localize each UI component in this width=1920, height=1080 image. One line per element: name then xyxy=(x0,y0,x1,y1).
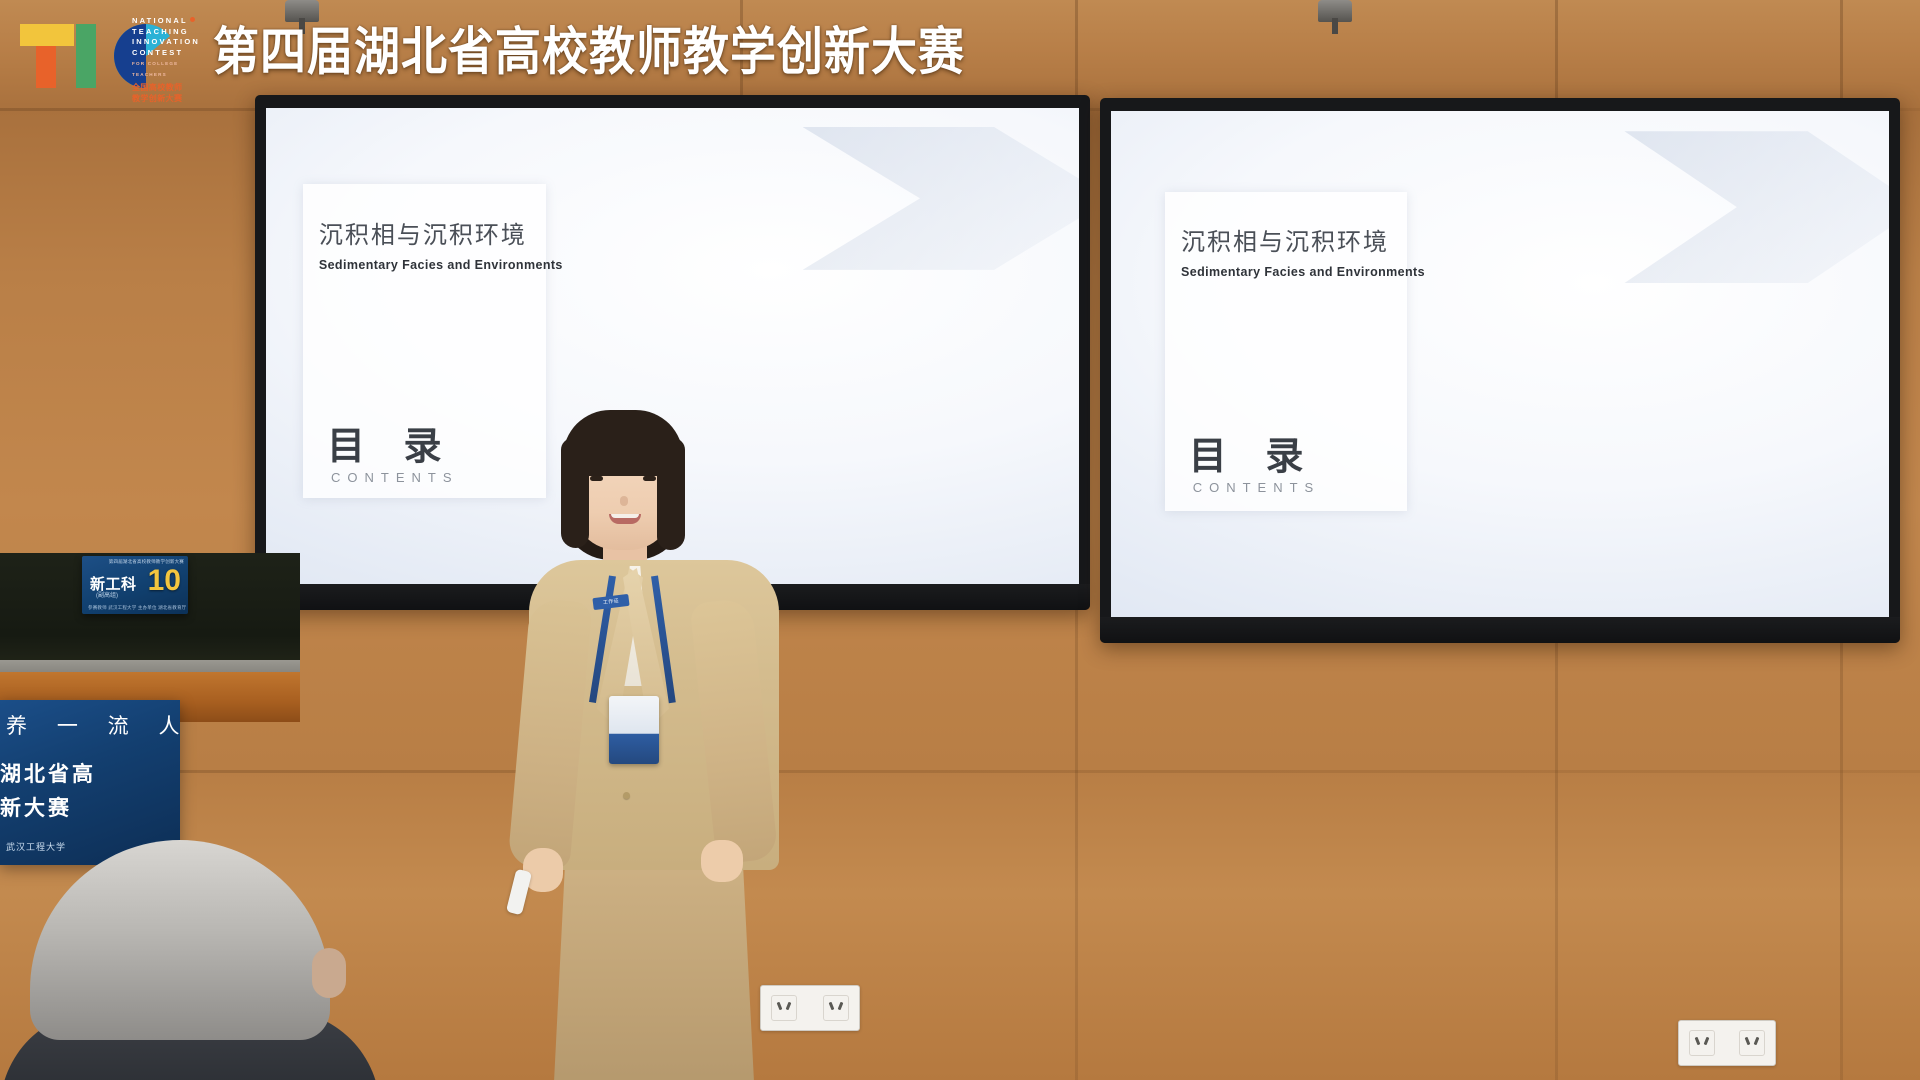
logo-chinese-line-1: 全国高校教师 xyxy=(132,83,200,94)
contents-heading-chinese: 目 录 xyxy=(327,415,456,470)
presentation-clicker[interactable] xyxy=(506,869,532,916)
audience-member-head xyxy=(30,840,350,1080)
audience-ear xyxy=(312,948,346,998)
slide-title-chinese: 沉积相与沉积环境 xyxy=(1181,222,1389,257)
display-brand-label: SEEWO xyxy=(1843,628,1882,638)
presenter-nose xyxy=(620,496,628,506)
slide-title-english: Sedimentary Facies and Environments xyxy=(319,258,563,272)
logo-accent-dot xyxy=(190,17,195,22)
placard-footer: 参赛教师 武汉工程大学 主办单位 湖北省教育厅 xyxy=(88,605,183,611)
bezel-control-keys[interactable] xyxy=(1245,630,1316,637)
audience-hair xyxy=(30,840,330,1040)
slide-chevron-decoration xyxy=(803,127,1079,270)
contents-heading-english: CONTENTS xyxy=(1193,480,1321,495)
bezel-control-keys[interactable] xyxy=(955,597,1010,604)
outlet-socket xyxy=(1689,1030,1715,1056)
logo-chinese-line-2: 教学创新大赛 xyxy=(132,94,200,105)
banner-line-1: 养 一 流 人 才 xyxy=(6,710,180,740)
outlet-socket xyxy=(1739,1030,1765,1056)
logo-wordmark: NATIONAL TEACHING INNOVATION CONTEST FOR… xyxy=(132,16,200,104)
wall-seam-horizontal xyxy=(0,770,1920,773)
banner-line-2: 湖北省高 xyxy=(0,758,96,788)
logo-line-4: CONTEST xyxy=(132,48,200,59)
presenter-mouth xyxy=(609,514,641,524)
presenter-hand-right xyxy=(701,840,743,882)
outlet-socket xyxy=(823,995,849,1021)
presenter-figure: 工作证 xyxy=(505,400,805,1080)
contestant-placard: 第四届湖北省高校教师教学创新大赛 新工科 (副高组) 10 参赛教师 武汉工程大… xyxy=(82,556,188,614)
right-display-panel[interactable]: 沉积相与沉积环境 Sedimentary Facies and Environm… xyxy=(1100,98,1900,643)
right-screen-surface[interactable]: 沉积相与沉积环境 Sedimentary Facies and Environm… xyxy=(1111,111,1889,617)
contest-title: 第四届湖北省高校教师教学创新大赛 xyxy=(213,11,965,85)
presenter-id-badge xyxy=(609,696,659,764)
presenter-hair-left xyxy=(561,438,589,548)
broadcast-header: NATIONAL TEACHING INNOVATION CONTEST FOR… xyxy=(0,0,1920,96)
placard-number: 10 xyxy=(148,566,181,596)
logo-line-5: FOR COLLEGE TEACHERS xyxy=(132,59,200,80)
slide-chevron-decoration xyxy=(1624,131,1889,283)
presenter-eye xyxy=(643,476,656,481)
classroom-scene: 沉积相与沉积环境 Sedimentary Facies and Environm… xyxy=(0,0,1920,1080)
presenter-hair-right xyxy=(657,438,685,550)
contents-heading-chinese: 目 录 xyxy=(1189,425,1318,480)
slide-title-english: Sedimentary Facies and Environments xyxy=(1181,265,1425,279)
jacket-button xyxy=(623,792,630,799)
placard-category-sub: (副高组) xyxy=(96,590,118,599)
logo-line-2: TEACHING xyxy=(132,27,200,38)
presenter-skirt xyxy=(553,862,755,1080)
presenter-hand-left xyxy=(523,848,563,892)
slide-title-chinese: 沉积相与沉积环境 xyxy=(319,215,527,250)
logo-line-3: INNOVATION xyxy=(132,37,200,48)
banner-line-3: 新大赛 xyxy=(0,792,72,822)
presenter-eye xyxy=(590,476,603,481)
tic-logo: NATIONAL TEACHING INNOVATION CONTEST FOR… xyxy=(14,6,199,90)
wall-outlet[interactable] xyxy=(1678,1020,1776,1066)
contents-heading-english: CONTENTS xyxy=(331,470,459,485)
